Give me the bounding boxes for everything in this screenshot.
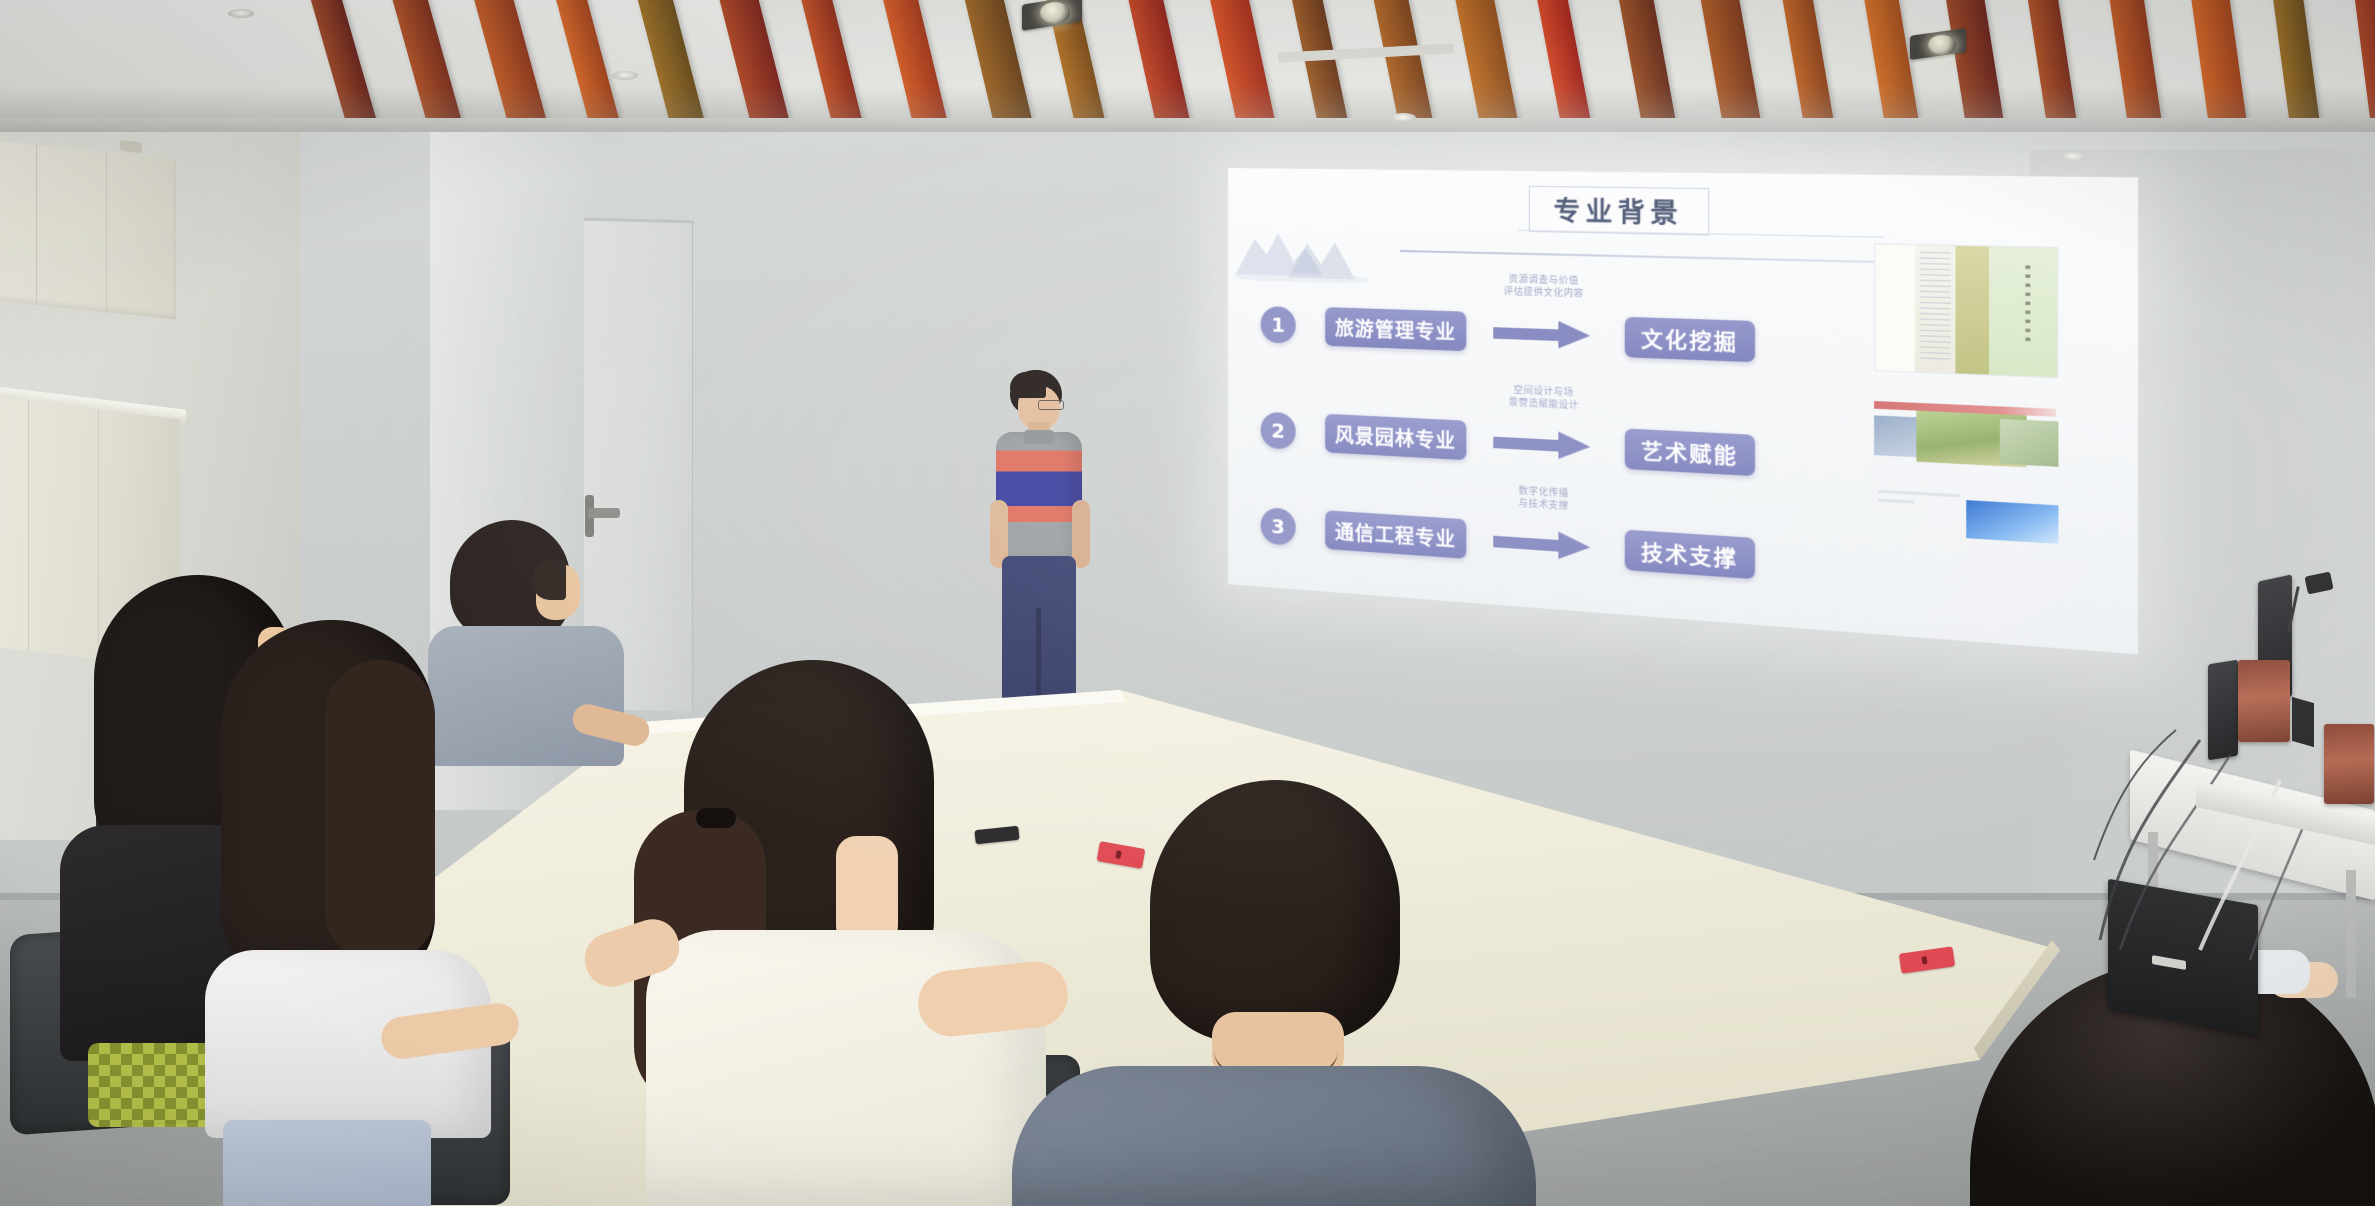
attendee-lace-top-skirt [223, 1120, 431, 1206]
wall-cabinet-upper [0, 140, 176, 319]
presenter-shirt [996, 432, 1082, 564]
row-note-3: 数字化传播与技术支撑 [1493, 484, 1594, 516]
arrow-icon-1 [1493, 319, 1594, 350]
attendee-cream-blouse-hairtie [696, 808, 736, 828]
attendee-blue-tee [1000, 780, 1540, 1206]
presenter-collar [1024, 430, 1054, 444]
av-cables [2080, 700, 2375, 990]
row-result-1: 文化挖掘 [1625, 317, 1755, 362]
attendee-gray-tee-hair-front [532, 560, 566, 600]
slide-header-rule [1400, 250, 1901, 264]
row-source-3: 通信工程专业 [1325, 510, 1466, 559]
slide-row-1: 1 旅游管理专业 文化挖掘 [1261, 301, 1755, 367]
slide-canvas: 专业背景 1 旅游管理专业 文化挖掘 资源调查与价值评估提供文化内容 2 风景园… [1228, 168, 2138, 654]
spotlight-1 [1040, 2, 1070, 24]
slide-row-3: 3 通信工程专业 技术支撑 [1261, 502, 1755, 583]
attendee-lace-top-ponytail [325, 660, 435, 960]
ceiling-edge-trim [0, 118, 2375, 132]
row-source-2: 风景园林专业 [1325, 414, 1466, 460]
downlight-4 [228, 9, 254, 18]
row-result-2: 艺术赋能 [1625, 428, 1755, 476]
row-note-2: 空间设计与场景营造赋能设计 [1489, 383, 1599, 413]
screenshot-root: 专业背景 1 旅游管理专业 文化挖掘 资源调查与价值评估提供文化内容 2 风景园… [0, 0, 2375, 1206]
attendee-blue-tee-hair [1150, 780, 1400, 1042]
row-result-3: 技术支撑 [1625, 530, 1755, 580]
slide-thumb-sky [1966, 500, 2058, 544]
row-number-2: 2 [1261, 412, 1296, 450]
door-handle-icon[interactable] [588, 508, 620, 518]
slide-document-image [1874, 243, 2058, 378]
slide-title: 专业背景 [1554, 190, 1684, 230]
slide-row-2: 2 风景园林专业 艺术赋能 [1261, 407, 1755, 481]
arrow-icon-2 [1493, 428, 1594, 461]
row-number-3: 3 [1261, 507, 1296, 546]
row-number-1: 1 [1261, 306, 1296, 344]
downlight-3 [2060, 152, 2086, 161]
presenter-hair-front [1010, 372, 1046, 398]
presenter-arm-right [1072, 500, 1090, 568]
downlight-1 [612, 71, 638, 80]
row-note-1: 资源调查与价值评估提供文化内容 [1485, 273, 1603, 302]
cabinet-handle-icon [120, 140, 142, 153]
arrow-icon-3 [1493, 527, 1594, 561]
downlight-2 [1390, 113, 1416, 122]
attendee-blue-tee-top [1012, 1066, 1536, 1206]
attendee-lace-top [205, 620, 505, 1206]
row-source-1: 旅游管理专业 [1325, 307, 1466, 351]
presenter-glasses-icon [1038, 400, 1064, 410]
spotlight-2 [1928, 35, 1956, 55]
slide-title-box: 专业背景 [1529, 186, 1709, 236]
projection-screen: 专业背景 1 旅游管理专业 文化挖掘 资源调查与价值评估提供文化内容 2 风景园… [1228, 168, 2138, 654]
slide-text-lines [1878, 490, 1961, 513]
ink-mountain-decoration [1234, 212, 1381, 284]
slide-thumb-green [2000, 419, 2058, 467]
ceiling [0, 0, 2375, 132]
